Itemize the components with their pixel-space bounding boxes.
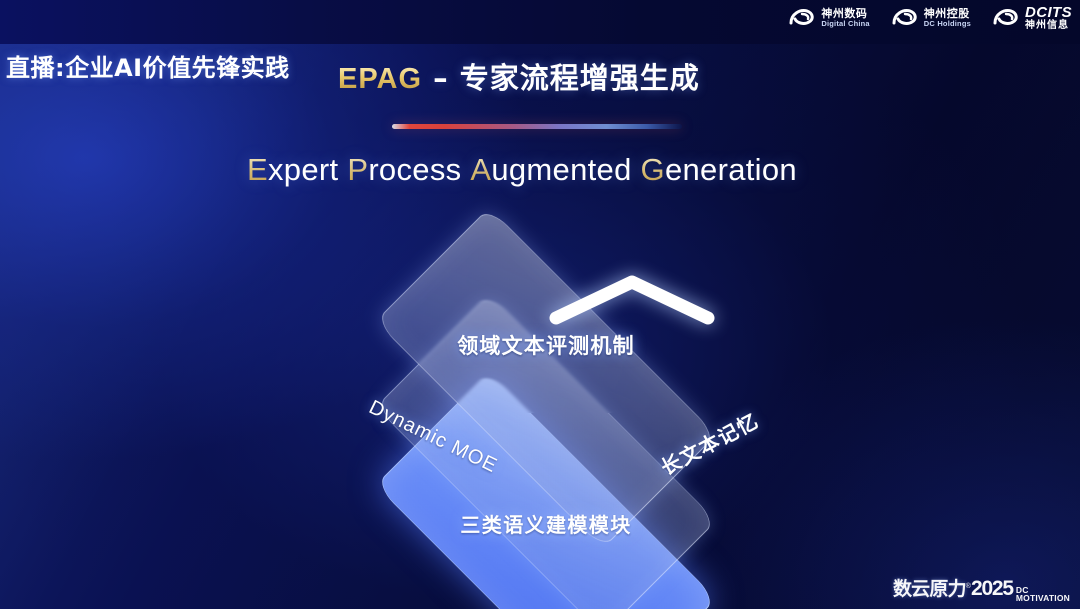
partner-name-en: Digital China <box>821 20 869 28</box>
page-title-dash: – <box>422 61 460 95</box>
subtitle-word1-initial: E <box>247 152 268 187</box>
subtitle-word1-rest: xpert <box>268 152 338 187</box>
diagram-layer-top-label: 领域文本评测机制 <box>296 330 796 360</box>
subtitle-word3-rest: ugmented <box>491 152 631 187</box>
partner-logo-digital-china: 神州数码 Digital China <box>789 8 869 28</box>
watermark-logo-dc-line2: MOTIVATION <box>1016 594 1070 602</box>
watermark-logo-chinese: 数云原力 <box>893 574 966 601</box>
partner-name-cn: 神州信息 <box>1025 21 1072 32</box>
gradient-divider <box>392 124 682 129</box>
page-title-chinese: 专家流程增强生成 <box>460 61 700 95</box>
page-title: EPAG – 专家流程增强生成 <box>338 55 700 97</box>
partner-logo-dc-holdings: 神州控股 DC Holdings <box>892 8 971 28</box>
partner-name-en: DC Holdings <box>924 20 971 28</box>
subtitle-word2-rest: rocess <box>368 152 461 187</box>
subtitle-word4-initial: G <box>641 152 665 187</box>
partner-logo-group: 神州数码 Digital China 神州控股 DC Holdings <box>789 5 1072 31</box>
partner-logo-dcits: DCITS 神州信息 <box>993 5 1072 31</box>
partner-label: 神州数码 Digital China <box>821 8 869 27</box>
subtitle-word2-initial: P <box>347 152 368 187</box>
page-title-acronym: EPAG <box>338 63 422 95</box>
layered-architecture-diagram: 领域文本评测机制 Dynamic MOE 长文本记忆 三类语义建模模块 <box>296 225 796 570</box>
watermark-logo-year: 2025 <box>971 577 1013 601</box>
swirl-icon <box>789 8 816 28</box>
partner-label: 神州控股 DC Holdings <box>924 8 971 27</box>
slide-canvas: 数云原力 ® 2025 DC MOTIVATION 直播:企业AI价值先锋实践 … <box>0 0 1080 609</box>
watermark-logo-dc-motivation: DC MOTIVATION <box>1016 586 1070 602</box>
swirl-icon <box>892 8 919 28</box>
subtitle-word3-initial: A <box>470 152 491 187</box>
corner-watermark-logo: 数云原力 ® 2025 DC MOTIVATION <box>893 574 1070 604</box>
watermark-logo-registered-mark: ® <box>966 583 971 590</box>
live-session-title: 直播:企业AI价值先锋实践 <box>6 48 290 83</box>
subtitle-word4-rest: eneration <box>665 152 797 187</box>
partner-name-en: DCITS <box>1025 5 1072 21</box>
swirl-icon <box>993 8 1020 28</box>
diagram-layer-bottom-label: 三类语义建模模块 <box>296 509 796 538</box>
partner-label: DCITS 神州信息 <box>1025 5 1072 31</box>
page-subtitle: Expert Process Augmented Generation <box>247 152 797 188</box>
